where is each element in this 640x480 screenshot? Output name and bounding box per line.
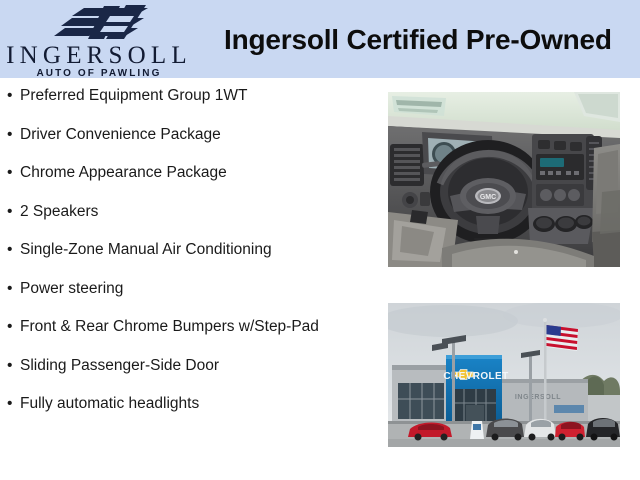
- bullet-icon: •: [7, 317, 12, 336]
- list-item-label: Single-Zone Manual Air Conditioning: [20, 241, 272, 258]
- svg-text:INGERSOLL: INGERSOLL: [515, 394, 561, 401]
- bullet-icon: •: [7, 125, 12, 144]
- bullet-icon: •: [7, 86, 12, 105]
- list-item-label: Fully automatic headlights: [20, 395, 199, 412]
- list-item: • Preferred Equipment Group 1WT: [0, 86, 380, 105]
- list-item: • Sliding Passenger-Side Door: [0, 356, 380, 375]
- list-item: • Fully automatic headlights: [0, 394, 380, 413]
- page-title: Ingersoll Certified Pre-Owned: [224, 24, 612, 56]
- list-item-label: Sliding Passenger-Side Door: [20, 357, 219, 374]
- brand-wordmark: INGERSOLL: [0, 42, 198, 69]
- list-item-label: Preferred Equipment Group 1WT: [20, 87, 247, 104]
- svg-text:GMC: GMC: [480, 194, 496, 201]
- list-item-label: Power steering: [20, 280, 123, 297]
- header-banner: INGERSOLL AUTO OF PAWLING Ingersoll Cert…: [0, 0, 640, 78]
- ingersoll-winged-emblem-icon: [48, 5, 160, 41]
- list-item: • Chrome Appearance Package: [0, 163, 380, 182]
- bullet-icon: •: [7, 163, 12, 182]
- bullet-icon: •: [7, 240, 12, 259]
- list-item-label: 2 Speakers: [20, 203, 98, 220]
- list-item-label: Driver Convenience Package: [20, 126, 221, 143]
- list-item: • Power steering: [0, 279, 380, 298]
- brand-tagline: AUTO OF PAWLING: [0, 68, 198, 79]
- list-item: • Front & Rear Chrome Bumpers w/Step-Pad: [0, 317, 380, 336]
- list-item-label: Front & Rear Chrome Bumpers w/Step-Pad: [20, 318, 319, 335]
- list-item: • 2 Speakers: [0, 202, 380, 221]
- list-item-label: Chrome Appearance Package: [20, 164, 227, 181]
- vehicle-interior-photo: GMC: [388, 92, 620, 267]
- list-item: • Single-Zone Manual Air Conditioning: [0, 240, 380, 259]
- dealership-exterior-photo: CHEVROLET INGERSOLL: [388, 303, 620, 447]
- dealer-logo: INGERSOLL AUTO OF PAWLING: [0, 2, 198, 78]
- bullet-icon: •: [7, 356, 12, 375]
- list-item: • Driver Convenience Package: [0, 125, 380, 144]
- bullet-icon: •: [7, 394, 12, 413]
- bullet-icon: •: [7, 279, 12, 298]
- vehicle-feature-list: • Preferred Equipment Group 1WT • Driver…: [0, 86, 380, 433]
- bullet-icon: •: [7, 202, 12, 221]
